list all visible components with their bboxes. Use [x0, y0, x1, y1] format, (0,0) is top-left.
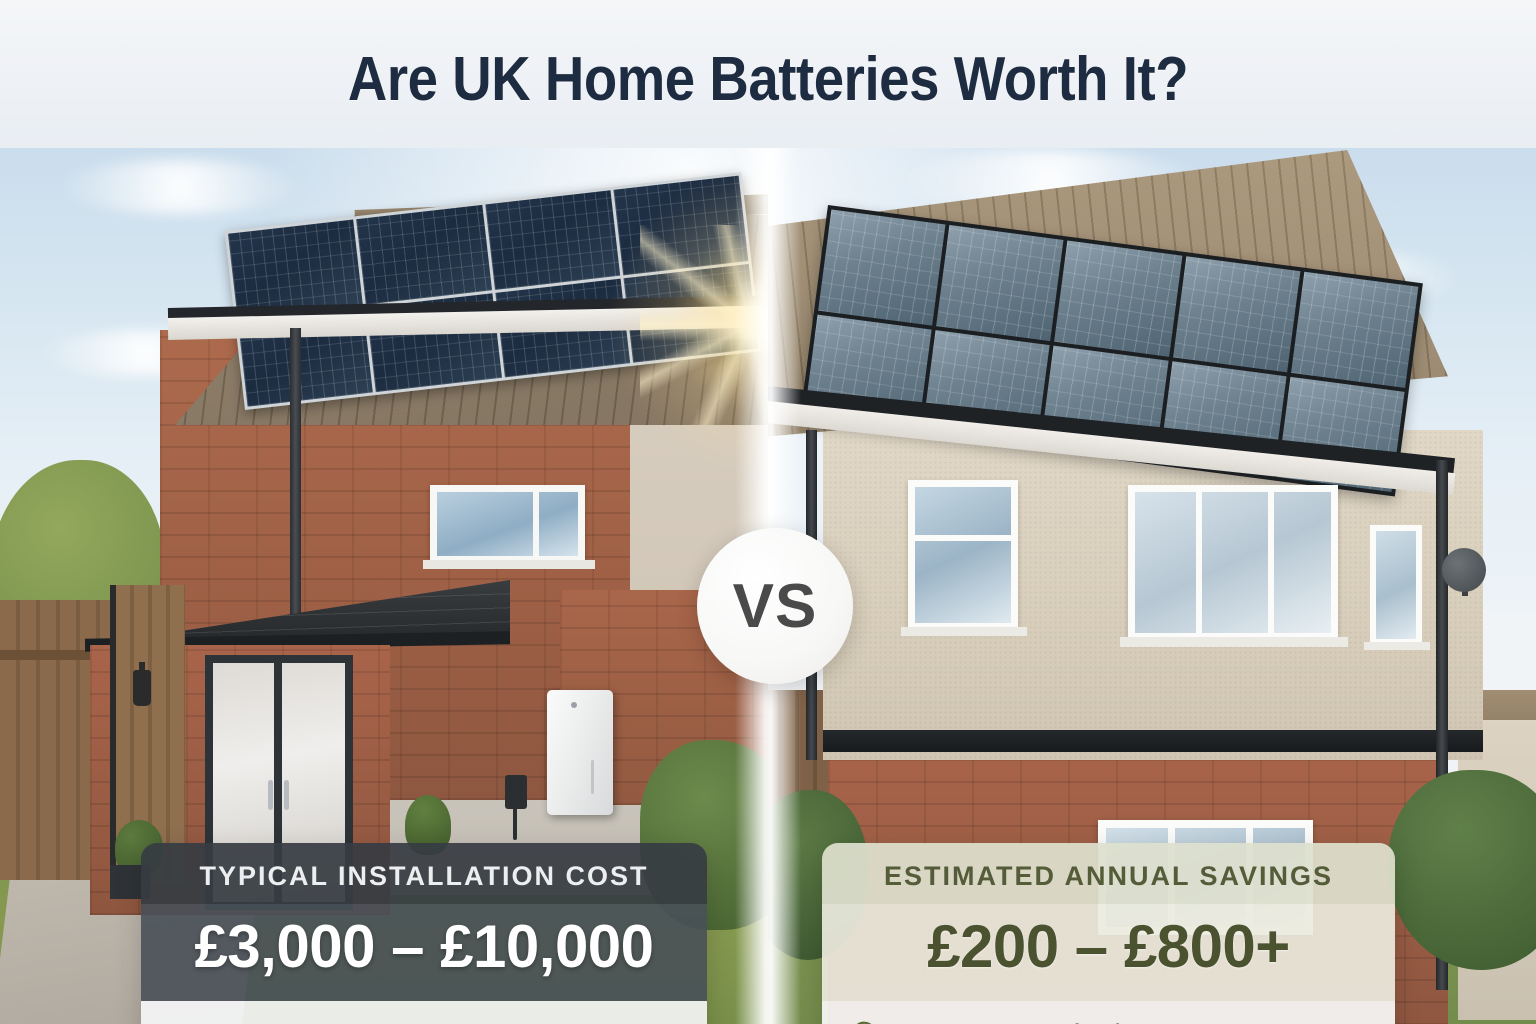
- window-transom: [908, 535, 1018, 541]
- benefit-label: Increase use of solar energy: [894, 1019, 1235, 1024]
- door-handle: [284, 780, 289, 810]
- installation-cost-value: £3,000 – £10,000: [141, 904, 707, 1001]
- window-sill: [1120, 637, 1348, 647]
- solar-panel-cell: [1291, 272, 1418, 388]
- solar-panel-cell: [818, 209, 945, 325]
- upstairs-window: [908, 480, 1018, 630]
- satellite-dish-icon: [1442, 548, 1486, 592]
- annual-savings-heading: ESTIMATED ANNUAL SAVINGS: [822, 843, 1395, 904]
- annual-savings-card: ESTIMATED ANNUAL SAVINGS £200 – £800+ In…: [822, 843, 1395, 1024]
- window-sill: [423, 560, 595, 569]
- solar-panel-cell: [613, 176, 748, 275]
- solar-panel-cell: [936, 225, 1063, 341]
- installation-cost-body: Typical payback period is 7 – 13 years H…: [141, 1001, 707, 1024]
- benefit-item: Increase use of solar energy: [848, 1013, 1369, 1024]
- solar-panel-cell: [356, 205, 491, 304]
- door-handle: [268, 780, 273, 810]
- battery-isolator-box: [505, 775, 527, 809]
- solar-panel-cell: [1055, 241, 1182, 357]
- payback-period-row: Typical payback period is 7 – 13 years: [167, 1017, 681, 1024]
- storey-band: [823, 730, 1483, 752]
- home-battery-unit: [547, 690, 613, 815]
- window-sill: [901, 627, 1027, 636]
- window-mullion: [1196, 485, 1202, 640]
- window-sill: [1364, 642, 1430, 650]
- upstairs-window: [1128, 485, 1338, 640]
- wall-lamp: [133, 670, 151, 706]
- window-mullion: [533, 485, 539, 563]
- battery-vent-slot: [591, 760, 594, 794]
- infographic-canvas: VS TYPICAL INSTALLATION COST £3,000 – £1…: [0, 0, 1536, 1024]
- battery-cable: [513, 808, 517, 840]
- upstairs-window: [430, 485, 585, 563]
- window-mullion: [1268, 485, 1274, 640]
- annual-savings-body: Increase use of solar energy Optimise of…: [822, 1001, 1395, 1024]
- solar-panel-cell: [1173, 256, 1300, 372]
- installation-cost-card: TYPICAL INSTALLATION COST £3,000 – £10,0…: [141, 843, 707, 1024]
- background-photo-composite: VS TYPICAL INSTALLATION COST £3,000 – £1…: [0, 130, 1536, 1024]
- installation-cost-heading: TYPICAL INSTALLATION COST: [141, 843, 707, 904]
- solar-panel-cell: [485, 190, 620, 289]
- upstairs-window: [1370, 525, 1422, 645]
- battery-status-led: [571, 702, 577, 708]
- vs-badge: VS: [697, 528, 853, 684]
- vs-label: VS: [733, 571, 818, 642]
- check-circle-icon: [848, 1018, 880, 1024]
- annual-savings-value: £200 – £800+: [822, 904, 1395, 1001]
- page-title: Are UK Home Batteries Worth It?: [92, 44, 1444, 115]
